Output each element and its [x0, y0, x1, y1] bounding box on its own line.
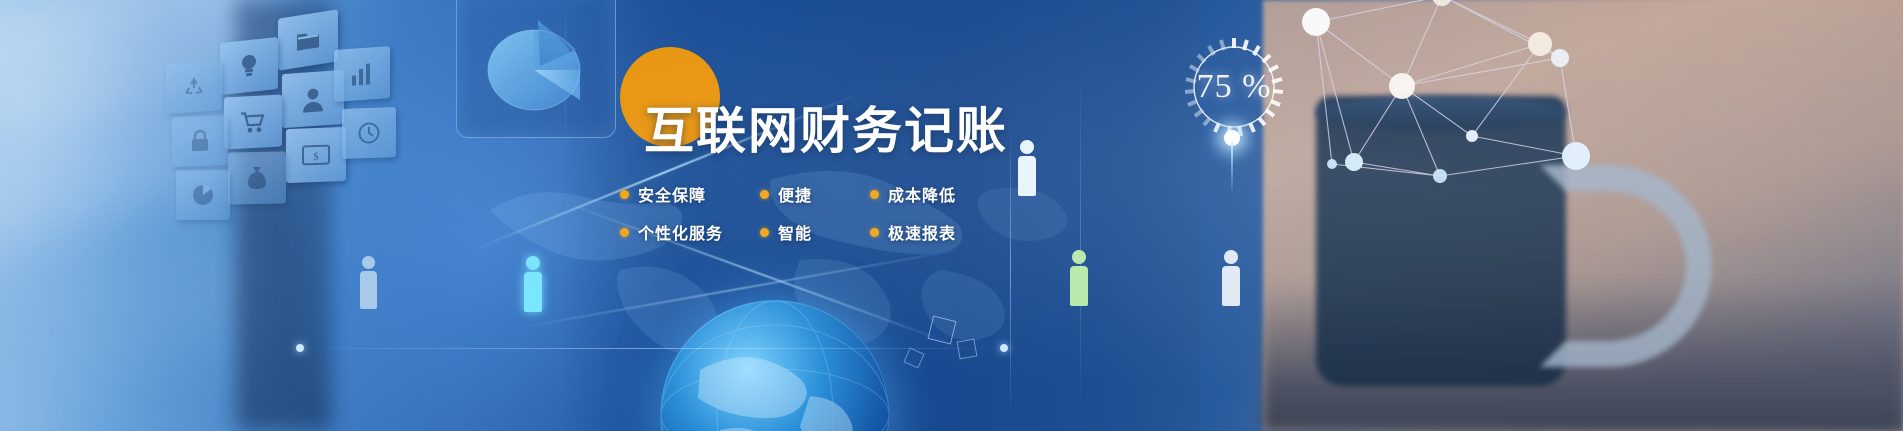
feature-row: 个性化服务 智能 极速报表	[620, 220, 1000, 244]
person-pictogram	[1222, 250, 1240, 306]
feature-item[interactable]: 便捷	[760, 182, 870, 206]
person-pictogram	[1070, 250, 1088, 306]
lock-icon	[189, 129, 211, 154]
feature-item[interactable]: 安全保障	[620, 182, 760, 206]
feature-label: 个性化服务	[638, 220, 723, 244]
person-pictogram	[360, 256, 377, 309]
feature-item[interactable]: 个性化服务	[620, 220, 760, 244]
feature-label: 极速报表	[888, 220, 956, 244]
cube-cart	[224, 94, 282, 149]
cube-credit-card: $	[286, 127, 346, 183]
feature-label: 便捷	[778, 182, 812, 206]
gauge-value-label: 75 %	[1179, 32, 1289, 142]
clock-icon	[358, 122, 380, 145]
feature-row: 安全保障 便捷 成本降低	[620, 182, 1000, 206]
gauge-indicator-stem	[1231, 142, 1233, 194]
cube-bar-chart	[334, 46, 390, 102]
bullet-icon	[760, 190, 769, 199]
bullet-icon	[870, 190, 879, 199]
marketing-banner: $	[0, 0, 1903, 431]
person-pictogram	[1018, 140, 1036, 196]
line-end-dot	[296, 344, 304, 352]
feature-label: 智能	[778, 220, 812, 244]
bullet-icon	[620, 190, 629, 199]
lightbulb-icon	[239, 52, 259, 80]
cube-recycle	[166, 60, 222, 114]
feature-list: 安全保障 便捷 成本降低 个性化服务 智能 极速报表	[620, 182, 1000, 258]
icon-cube-cluster: $	[172, 6, 402, 216]
bullet-icon	[760, 228, 769, 237]
cube-pie-chart	[176, 170, 230, 220]
bullet-icon	[620, 228, 629, 237]
cube-lock	[172, 115, 228, 167]
network-graph	[1292, 0, 1632, 186]
svg-text:$: $	[313, 151, 319, 163]
money-bag-icon	[246, 166, 268, 190]
cube-money-bag	[228, 151, 286, 204]
shopping-cart-icon	[240, 109, 266, 134]
recycle-icon	[182, 74, 206, 100]
bullet-icon	[870, 228, 879, 237]
feature-item[interactable]: 极速报表	[870, 220, 956, 244]
cube-folder	[278, 9, 338, 71]
cube-lightbulb	[220, 37, 278, 95]
credit-card-icon: $	[302, 145, 330, 166]
cube-clock	[342, 107, 396, 159]
feature-item[interactable]: 成本降低	[870, 182, 956, 206]
page-title: 互联网财务记账	[644, 104, 1008, 158]
vertical-rule	[1080, 60, 1081, 420]
person-pictogram	[524, 256, 542, 312]
horizontal-rule	[300, 348, 1000, 349]
globe-graphic	[660, 300, 890, 431]
feature-item[interactable]: 智能	[760, 220, 870, 244]
person-icon	[301, 85, 325, 113]
folder-icon	[295, 27, 321, 53]
hud-square	[957, 339, 978, 360]
line-end-dot	[1000, 344, 1008, 352]
vertical-rule	[1010, 120, 1011, 420]
pie-chart-icon	[192, 184, 214, 206]
bar-chart-icon	[350, 62, 374, 86]
feature-label: 安全保障	[638, 182, 706, 206]
pie-chart	[476, 8, 598, 120]
feature-label: 成本降低	[888, 182, 956, 206]
